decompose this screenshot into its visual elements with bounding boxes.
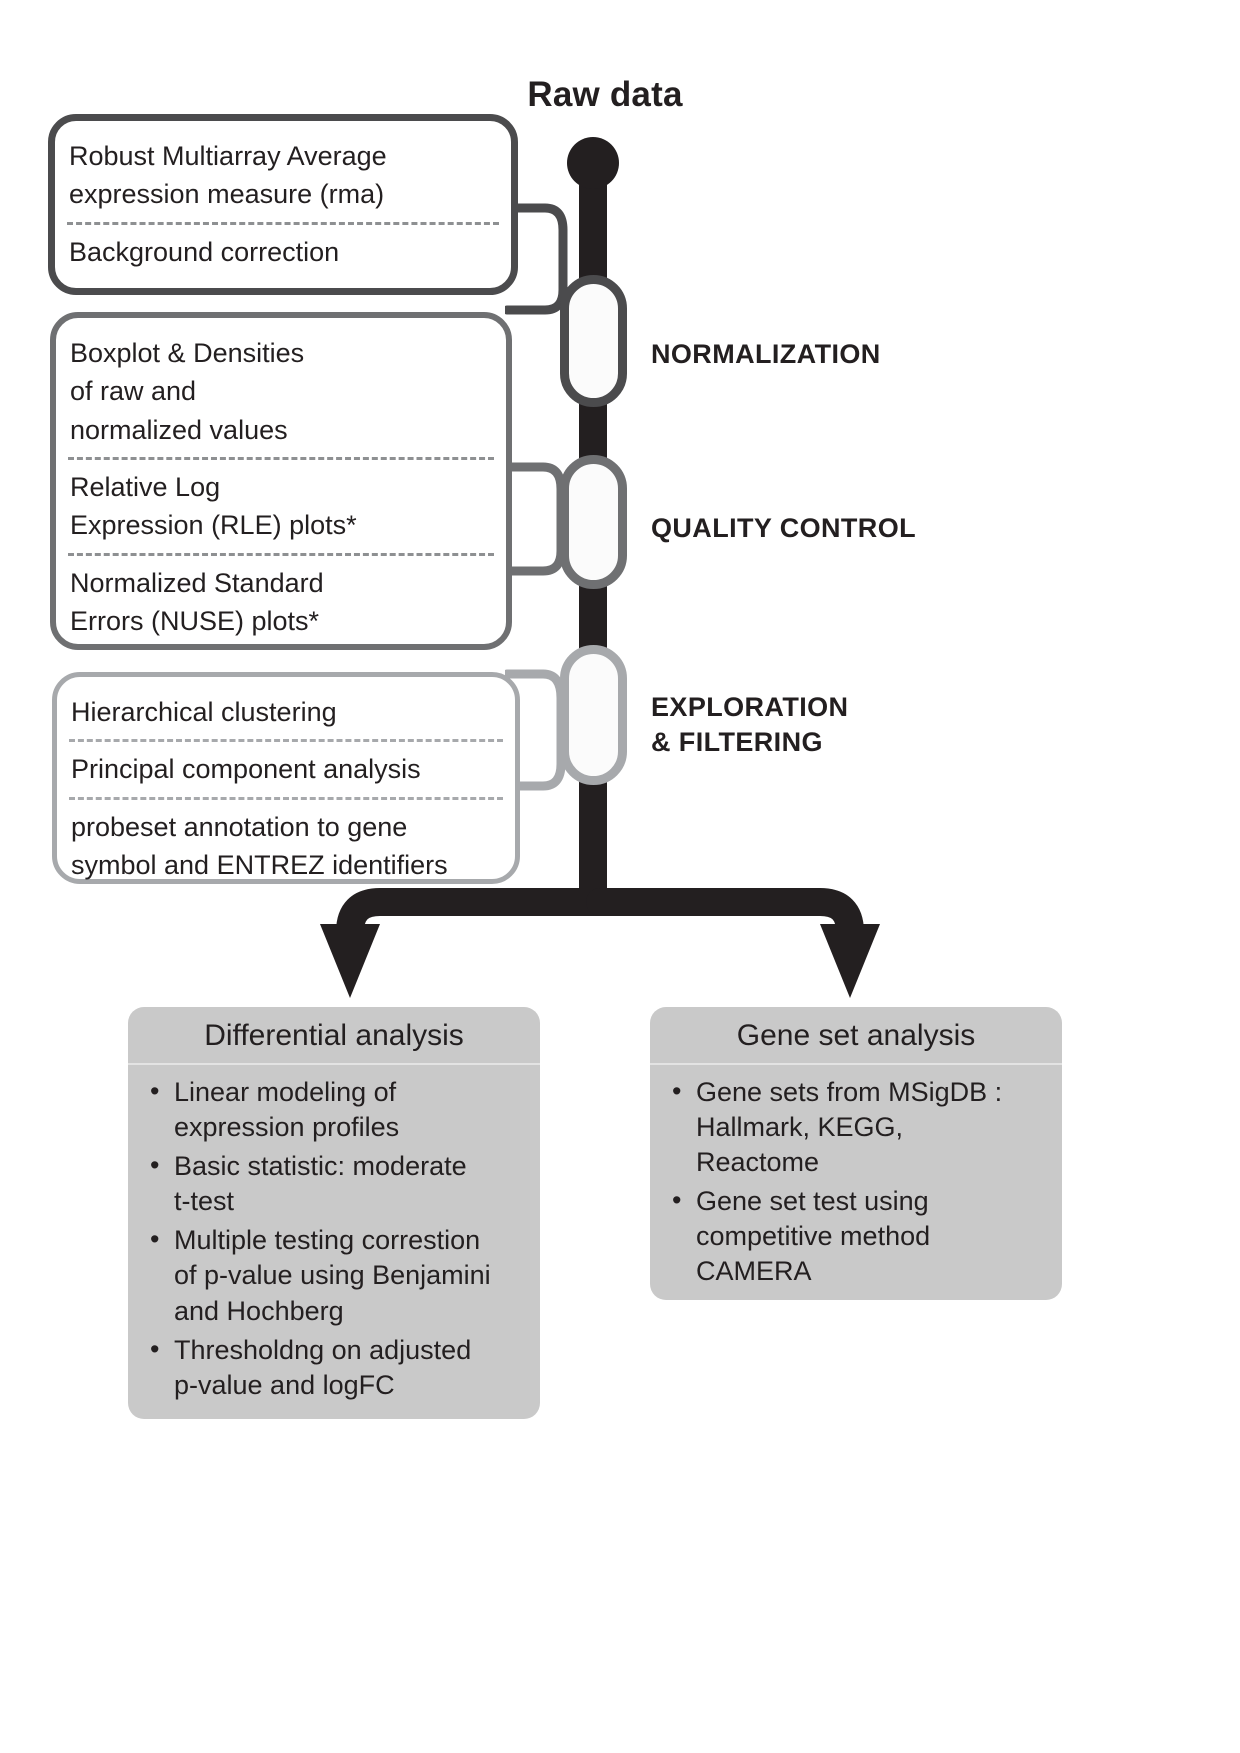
- method-box-normalization: Robust Multiarray Average expression mea…: [48, 114, 518, 295]
- method-divider: [69, 797, 503, 800]
- method-divider: [67, 222, 499, 225]
- method-box-exploration: Hierarchical clustering Principal compon…: [52, 672, 520, 884]
- list-item: Thresholdng on adjusted p-value and logF…: [142, 1333, 522, 1403]
- panel-title-differential: Differential analysis: [128, 1007, 540, 1065]
- method-divider: [68, 457, 494, 460]
- method-item: Principal component analysis: [57, 744, 515, 794]
- method-item: Boxplot & Densities of raw and normalize…: [56, 328, 506, 455]
- method-divider: [68, 553, 494, 556]
- flowchart-canvas: Raw data NORMALIZATION QUALITY CONTROL E…: [0, 0, 1240, 1753]
- method-item: Relative Log Expression (RLE) plots*: [56, 462, 506, 551]
- method-box-quality: Boxplot & Densities of raw and normalize…: [50, 312, 512, 650]
- method-divider: [69, 739, 503, 742]
- stage-label-exploration: EXPLORATION & FILTERING: [651, 690, 848, 759]
- stage-label-normalization: NORMALIZATION: [651, 337, 881, 372]
- method-item: Background correction: [55, 227, 511, 277]
- stage-label-quality: QUALITY CONTROL: [651, 511, 916, 546]
- method-item: Normalized Standard Errors (NUSE) plots*: [56, 558, 506, 647]
- result-panel-differential: Differential analysis Linear modeling of…: [128, 1007, 540, 1419]
- differential-bullet-list: Linear modeling of expression profiles B…: [128, 1065, 540, 1419]
- stage-node-quality: [560, 455, 627, 589]
- method-item: Robust Multiarray Average expression mea…: [55, 131, 511, 220]
- method-item: probeset annotation to gene symbol and E…: [57, 802, 515, 891]
- panel-title-geneset: Gene set analysis: [650, 1007, 1062, 1065]
- list-item: Multiple testing correstion of p-value u…: [142, 1223, 522, 1328]
- page-title: Raw data: [455, 75, 755, 115]
- list-item: Linear modeling of expression profiles: [142, 1075, 522, 1145]
- list-item: Gene set test using competitive method C…: [664, 1184, 1044, 1289]
- list-item: Basic statistic: moderate t-test: [142, 1149, 522, 1219]
- stage-node-normalization: [560, 275, 627, 407]
- list-item: Gene sets from MSigDB : Hallmark, KEGG, …: [664, 1075, 1044, 1180]
- result-panel-geneset: Gene set analysis Gene sets from MSigDB …: [650, 1007, 1062, 1300]
- geneset-bullet-list: Gene sets from MSigDB : Hallmark, KEGG, …: [650, 1065, 1062, 1300]
- raw-data-node-icon: [567, 137, 619, 189]
- method-item: Hierarchical clustering: [57, 687, 515, 737]
- stage-node-exploration: [560, 645, 627, 785]
